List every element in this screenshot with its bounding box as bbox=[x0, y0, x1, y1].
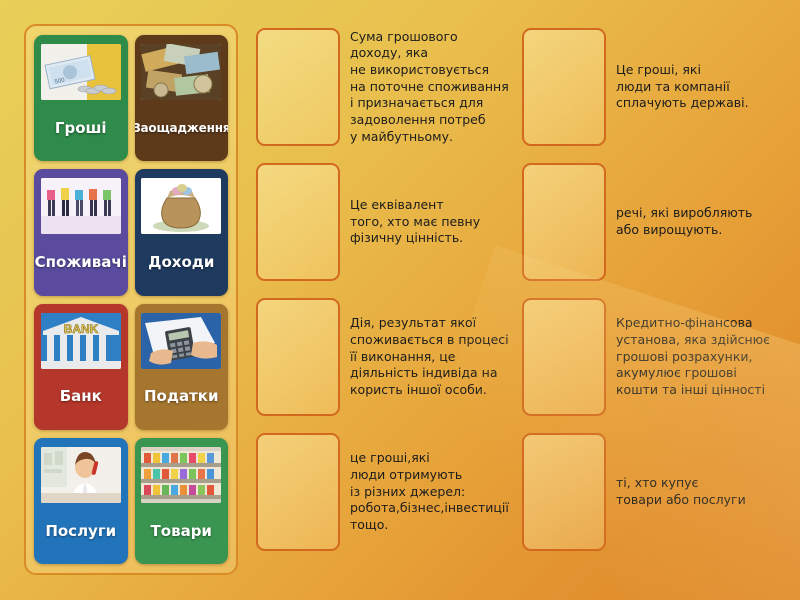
definition-row: ті, хто купує товари або послуги bbox=[522, 430, 794, 554]
drop-slot-2[interactable] bbox=[256, 163, 340, 281]
bank-building-image: BANK bbox=[41, 313, 121, 369]
definition-text: речі, які виробляють або вирощують. bbox=[616, 205, 794, 238]
definition-text: це гроші,які люди отримують із різних дж… bbox=[350, 450, 526, 533]
definition-row: Це гроші, які люди та компанії сплачують… bbox=[522, 25, 794, 149]
drop-slot-1[interactable] bbox=[256, 28, 340, 146]
drop-slot-6[interactable] bbox=[522, 163, 606, 281]
store-shelves-image bbox=[141, 447, 221, 503]
definition-text: Кредитно-фінансова установа, яка здійсню… bbox=[616, 315, 794, 398]
drop-slot-3[interactable] bbox=[256, 298, 340, 416]
calculator-hands-image bbox=[141, 313, 221, 369]
tile-label: Товари bbox=[140, 503, 224, 560]
tile-label: Заощадження bbox=[140, 100, 224, 157]
definition-row: речі, які виробляють або вирощують. bbox=[522, 160, 794, 284]
definition-row: Це еквівалент того, хто має певну фізичн… bbox=[256, 160, 526, 284]
tile-label: Банк bbox=[39, 369, 123, 426]
tile-card-dokhody[interactable]: Доходи bbox=[135, 169, 229, 295]
tile-label: Гроші bbox=[39, 100, 123, 157]
definition-column-right: Це гроші, які люди та компанії сплачують… bbox=[522, 25, 794, 577]
tile-card-podatky[interactable]: Податки bbox=[135, 304, 229, 430]
definition-text: Дія, результат якої споживається в проце… bbox=[350, 315, 526, 398]
drop-slot-8[interactable] bbox=[522, 433, 606, 551]
tile-card-bank[interactable]: BANK Банк bbox=[34, 304, 128, 430]
drop-slot-7[interactable] bbox=[522, 298, 606, 416]
banknotes-and-coins-image: 500 bbox=[41, 44, 121, 100]
tile-label: Доходи bbox=[140, 234, 224, 291]
call-center-operator-image bbox=[41, 447, 121, 503]
drop-slot-4[interactable] bbox=[256, 433, 340, 551]
definition-column-middle: Сума грошового доходу, яка не використов… bbox=[256, 25, 526, 577]
definition-text: Це гроші, які люди та компанії сплачують… bbox=[616, 62, 794, 112]
tile-card-poslugy[interactable]: Послуги bbox=[34, 438, 128, 564]
definition-row: Дія, результат якої споживається в проце… bbox=[256, 295, 526, 419]
money-sack-image bbox=[141, 178, 221, 234]
tile-card-groshi[interactable]: 500 Гроші bbox=[34, 35, 128, 161]
definition-row: Кредитно-фінансова установа, яка здійсню… bbox=[522, 295, 794, 419]
definition-text: ті, хто купує товари або послуги bbox=[616, 475, 794, 508]
tile-label: Послуги bbox=[39, 503, 123, 560]
currency-pile-image bbox=[141, 44, 221, 100]
shoppers-walking-image bbox=[41, 178, 121, 234]
drop-slot-5[interactable] bbox=[522, 28, 606, 146]
tile-card-spozhyvachi[interactable]: Споживачі bbox=[34, 169, 128, 295]
definition-text: Сума грошового доходу, яка не використов… bbox=[350, 29, 526, 145]
definition-row: це гроші,які люди отримують із різних дж… bbox=[256, 430, 526, 554]
definition-row: Сума грошового доходу, яка не використов… bbox=[256, 25, 526, 149]
tile-label: Споживачі bbox=[39, 234, 123, 291]
definition-text: Це еквівалент того, хто має певну фізичн… bbox=[350, 197, 526, 247]
tile-card-zaoshchadzhennya[interactable]: Заощадження bbox=[135, 35, 229, 161]
tile-panel: 500 Гроші bbox=[24, 24, 238, 575]
svg-text:BANK: BANK bbox=[63, 322, 98, 336]
tile-card-tovary[interactable]: Товари bbox=[135, 438, 229, 564]
tile-label: Податки bbox=[140, 369, 224, 426]
